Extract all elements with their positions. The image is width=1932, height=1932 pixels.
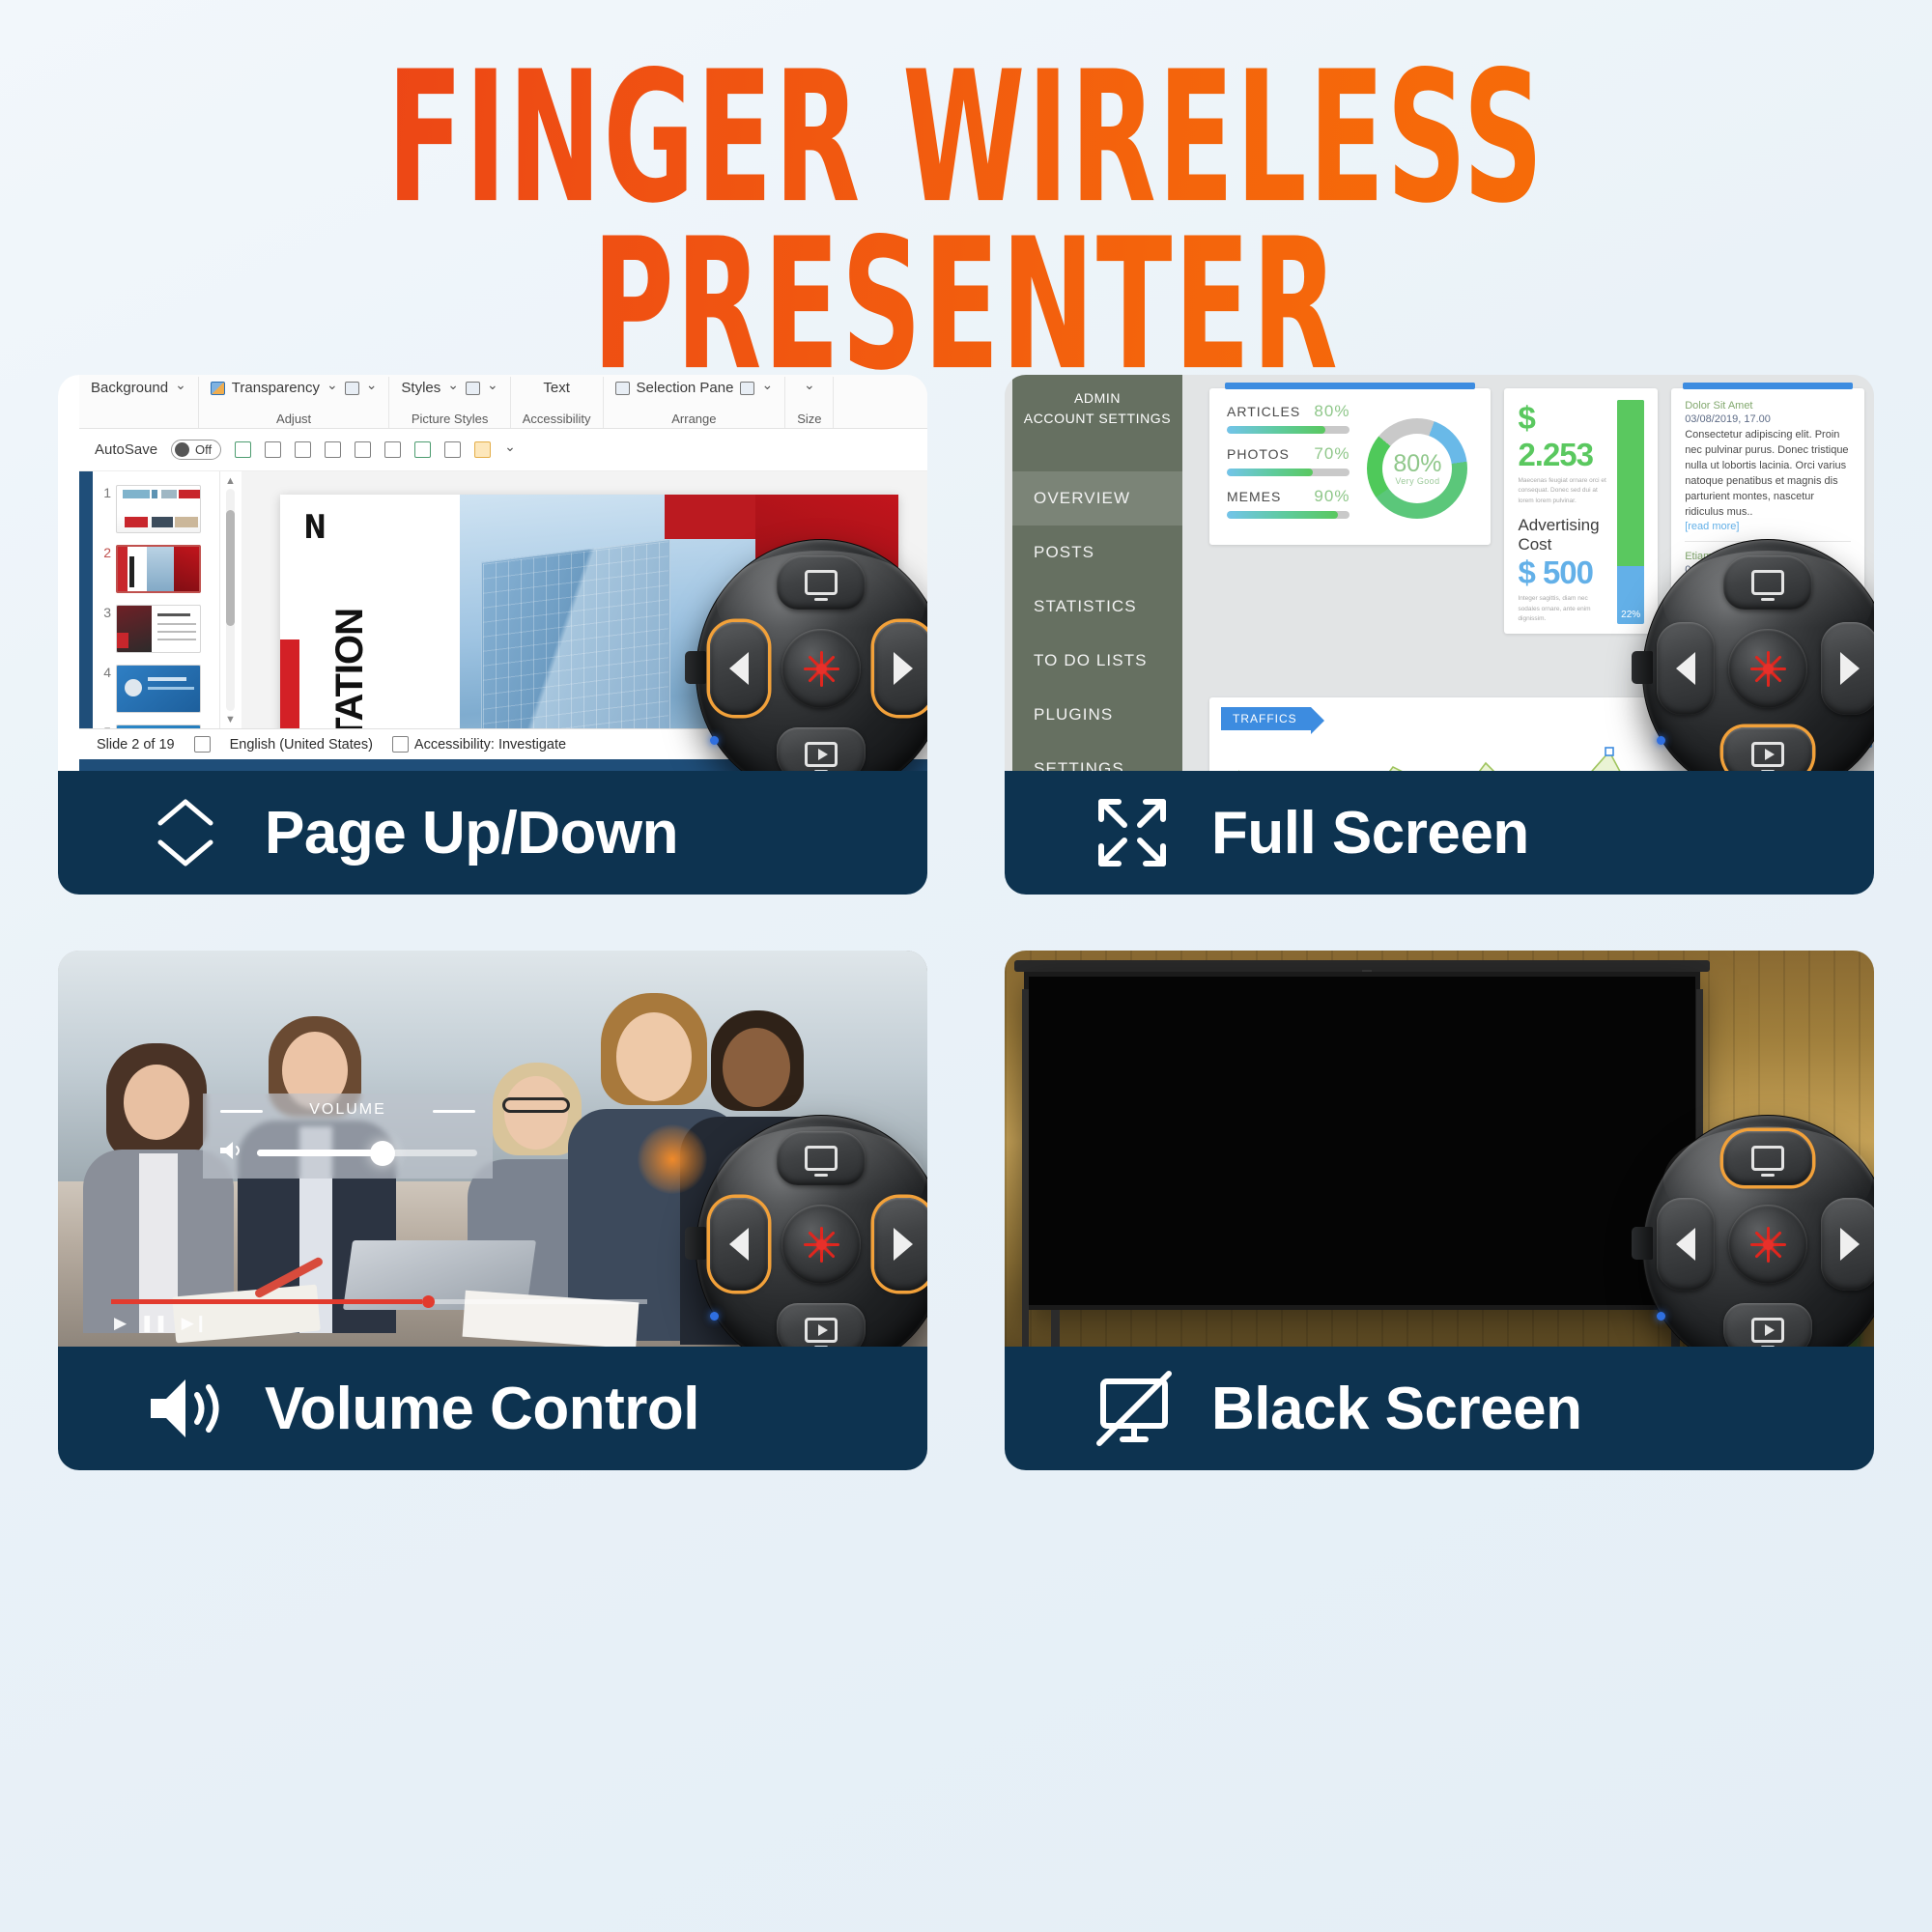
previous-button[interactable] <box>1657 622 1715 715</box>
slide-logo: N <box>304 508 327 547</box>
volume-overlay: VOLUME <box>203 1094 493 1179</box>
slide-number: 3 <box>99 605 111 620</box>
ribbon-group-background[interactable]: Background <box>79 377 199 429</box>
banner-label: Black Screen <box>1211 1375 1581 1443</box>
quick-access-toolbar: AutoSave Off <box>79 429 927 471</box>
sidebar-item-statistics[interactable]: STATISTICS <box>1012 580 1182 634</box>
window-left-edge <box>79 471 93 728</box>
slideshow-icon <box>805 742 838 767</box>
remote-body <box>1642 1115 1874 1349</box>
laser-core <box>1763 1239 1774 1250</box>
slideshow-button[interactable] <box>1723 727 1812 773</box>
stat-label: PHOTOS <box>1227 446 1290 462</box>
stat-label: ARTICLES <box>1227 404 1300 419</box>
sidebar-item-to-do-lists[interactable]: TO DO LISTS <box>1012 634 1182 688</box>
news-item: Dolor Sit Amet 03/08/2019, 17.00 Consect… <box>1685 400 1851 532</box>
gauge-caption: Very Good <box>1393 476 1441 486</box>
advertising-note: Integer sagittis, diam nec sodales ornar… <box>1518 594 1609 624</box>
speaker-icon <box>218 1140 243 1166</box>
chevron-left-icon <box>729 1228 749 1261</box>
volume-slider-row[interactable] <box>218 1140 477 1166</box>
chevron-right-icon <box>894 652 913 685</box>
redo-icon[interactable] <box>295 441 311 458</box>
laser-icon <box>1748 649 1787 688</box>
card-accent-bar <box>1683 383 1853 389</box>
feature-card-full-screen: ADMIN ACCOUNT SETTINGS OVERVIEW POSTS ST… <box>1005 375 1874 896</box>
accessibility-icon <box>392 736 409 753</box>
revenue-card: $ 2.253 Maecenas feugiat ornare orci et … <box>1504 388 1658 634</box>
stat-value: 80% <box>1314 402 1350 421</box>
next-button[interactable] <box>874 622 927 715</box>
slideshow-icon <box>805 1318 838 1343</box>
slide-preview-active[interactable] <box>116 545 201 593</box>
sidebar-item-plugins[interactable]: PLUGINS <box>1012 688 1182 742</box>
projection-screen <box>1024 972 1700 1310</box>
ribbon-group-size[interactable]: Size <box>785 377 834 429</box>
chevron-right-icon <box>1840 1228 1860 1261</box>
previous-button[interactable] <box>710 622 768 715</box>
remote-control-device <box>1642 1115 1874 1349</box>
stat-track <box>1227 511 1350 519</box>
banner-label: Page Up/Down <box>265 799 678 867</box>
slide-number: 4 <box>99 665 111 680</box>
chevron-down-icon[interactable] <box>761 380 773 396</box>
chevron-down-icon[interactable] <box>327 380 338 396</box>
insert-picture-icon[interactable] <box>384 441 401 458</box>
stat-fill <box>1227 511 1338 519</box>
speaker-waves-icon <box>139 1362 232 1455</box>
banner-volume-control: Volume Control <box>58 1347 927 1470</box>
finger-clip <box>1632 651 1653 684</box>
status-language[interactable]: English (United States) <box>230 737 373 753</box>
monitor-slash-icon <box>1086 1362 1179 1455</box>
ribbon-group-accessibility[interactable]: Text Accessibility <box>511 377 604 429</box>
transparency-icon <box>211 382 225 395</box>
remote-body <box>1642 539 1874 773</box>
ribbon-transparency-label: Transparency <box>232 380 320 396</box>
picture-effects-icon <box>466 382 480 395</box>
feature-card-volume-control: VOLUME <box>58 951 927 1472</box>
slide-thumbnail-2[interactable]: 2 <box>93 539 219 599</box>
laser-pointer-button[interactable] <box>781 629 861 708</box>
dashboard-sidebar: ADMIN ACCOUNT SETTINGS OVERVIEW POSTS ST… <box>1012 375 1182 773</box>
read-more-link[interactable]: [read more] <box>1685 521 1851 532</box>
powerpoint-ribbon: Background Transparency Adjust <box>79 375 927 429</box>
toggle-knob <box>175 442 189 457</box>
next-button[interactable] <box>1821 1198 1874 1291</box>
chevrons-up-down-icon <box>139 786 232 879</box>
expand-arrows-icon <box>1086 786 1179 879</box>
advertising-bar: 22% <box>1617 400 1644 624</box>
screen-leg <box>1051 1310 1060 1349</box>
ribbon-text-label: Text <box>543 380 570 396</box>
sidebar-header-admin: ADMIN <box>1016 388 1179 409</box>
slideshow-icon <box>1751 742 1784 767</box>
sidebar-nav: OVERVIEW POSTS STATISTICS TO DO LISTS PL… <box>1012 471 1182 773</box>
projector-screen-photo <box>1005 951 1874 1349</box>
ribbon-group-arrange[interactable]: Selection Pane Arrange <box>604 377 786 429</box>
chevron-right-icon <box>894 1228 913 1261</box>
slide-preview[interactable] <box>116 485 201 533</box>
gauge-ring: 80% Very Good <box>1367 418 1467 519</box>
undo-icon[interactable] <box>265 441 281 458</box>
status-led <box>710 736 719 745</box>
laser-core <box>1763 664 1774 674</box>
slide-thumbnail-4[interactable]: 4 <box>93 659 219 719</box>
volume-slider-fill <box>257 1150 383 1156</box>
remote-control-device <box>696 539 927 773</box>
progress-fill <box>111 1299 422 1304</box>
advertising-bar-value: 22% <box>1617 610 1644 624</box>
laser-pointer-button[interactable] <box>781 1205 861 1284</box>
monitor-button[interactable] <box>777 555 866 610</box>
news-body: Consectetur adipiscing elit. Proin nec p… <box>1685 428 1851 521</box>
slideshow-icon <box>1751 1318 1784 1343</box>
powerpoint-screenshot: Background Transparency Adjust <box>58 375 927 773</box>
ribbon-group-label-arrange: Arrange <box>671 412 716 429</box>
remote-body <box>696 539 927 773</box>
news-title: Dolor Sit Amet <box>1685 400 1851 412</box>
monitor-button[interactable] <box>1723 1131 1812 1185</box>
scrollbar-thumb[interactable] <box>226 510 235 626</box>
slide-preview[interactable] <box>116 665 201 713</box>
laser-icon <box>1748 1225 1787 1264</box>
monitor-icon <box>805 570 838 595</box>
feature-card-black-screen: Black Screen <box>1005 951 1874 1472</box>
laser-core <box>816 664 827 674</box>
ribbon-group-label-adjust: Adjust <box>276 412 311 429</box>
traffics-tag: TRAFFICS <box>1221 707 1311 730</box>
stats-card: ARTICLES 80% PHOTOS 70% <box>1209 388 1491 545</box>
slide-thumbnail-3[interactable]: 3 <box>93 599 219 659</box>
laser-pointer-button[interactable] <box>1728 629 1807 708</box>
slide-number-active: 2 <box>99 545 111 560</box>
sidebar-item-posts[interactable]: POSTS <box>1012 526 1182 580</box>
autosave-label: AutoSave <box>95 441 157 458</box>
stat-fill <box>1227 426 1325 434</box>
news-date: 03/08/2019, 17.00 <box>1685 413 1851 425</box>
next-icon[interactable]: ▶❙ <box>182 1314 208 1333</box>
ribbon-group-label-size: Size <box>797 412 821 429</box>
spellcheck-icon[interactable] <box>194 736 211 753</box>
remote-body <box>696 1115 927 1349</box>
meeting-photo: VOLUME <box>58 951 927 1349</box>
video-controls[interactable]: ▶ ❚❚ ▶❙ <box>114 1314 208 1333</box>
slide-thumbnail-pane[interactable]: 1 2 <box>93 471 220 728</box>
status-led <box>1657 1312 1665 1321</box>
card-accent-bar <box>1225 383 1475 389</box>
banner-full-screen: Full Screen <box>1005 771 1874 895</box>
status-slide-counter: Slide 2 of 19 <box>97 737 175 753</box>
chevron-right-icon <box>1840 652 1860 685</box>
ribbon-styles-label: Styles <box>401 380 440 396</box>
banner-black-screen: Black Screen <box>1005 1347 1874 1470</box>
banner-page-up-down: Page Up/Down <box>58 771 927 895</box>
chevron-left-icon <box>1676 1228 1695 1261</box>
new-file-icon[interactable] <box>355 441 371 458</box>
pause-icon[interactable]: ❚❚ <box>140 1314 168 1333</box>
stat-value: 90% <box>1314 487 1350 506</box>
remote-control-device <box>696 1115 927 1349</box>
slide-thumbnail-1[interactable]: 1 <box>93 479 219 539</box>
title-line-2: PRESENTER <box>29 223 1903 389</box>
status-led <box>710 1312 719 1321</box>
chevron-left-icon <box>1676 652 1695 685</box>
advertising-label: Advertising Cost <box>1518 516 1609 554</box>
laser-icon <box>802 1225 840 1264</box>
chevron-down-icon[interactable] <box>804 380 815 396</box>
sidebar-header-account-settings: ACCOUNT SETTINGS <box>1016 409 1179 429</box>
next-button[interactable] <box>874 1198 927 1291</box>
title-line-1: FINGER WIRELESS <box>29 56 1903 222</box>
monitor-button[interactable] <box>777 1131 866 1185</box>
feature-card-grid: Background Transparency Adjust <box>58 375 1874 1472</box>
rotate-icon <box>740 382 754 395</box>
score-gauge: 80% Very Good <box>1361 412 1473 519</box>
scroll-up-icon[interactable]: ▲ <box>225 475 236 486</box>
sidebar-header: ADMIN ACCOUNT SETTINGS <box>1012 386 1182 450</box>
monitor-button[interactable] <box>1723 555 1812 610</box>
volume-slider-knob[interactable] <box>370 1141 395 1166</box>
ribbon-group-label-accessibility: Accessibility <box>523 412 591 429</box>
stat-track <box>1227 426 1350 434</box>
ribbon-group-adjust[interactable]: Transparency Adjust <box>199 377 390 429</box>
start-slideshow-icon[interactable] <box>444 441 461 458</box>
selection-pane-icon <box>615 382 630 395</box>
next-button[interactable] <box>1821 622 1874 715</box>
progress-track[interactable] <box>111 1299 647 1304</box>
overlay-dash-left <box>220 1110 263 1113</box>
stat-row-memes: MEMES 90% <box>1227 487 1350 519</box>
slide-preview[interactable] <box>116 605 201 653</box>
finger-clip <box>685 651 706 684</box>
slide-number: 1 <box>99 485 111 500</box>
ribbon-group-picture-styles[interactable]: Styles Picture Styles <box>389 377 510 429</box>
banner-label: Full Screen <box>1211 799 1529 867</box>
scroll-down-icon[interactable]: ▼ <box>225 714 236 724</box>
remote-control-device <box>1642 539 1874 773</box>
monitor-icon <box>805 1146 838 1171</box>
slideshow-button[interactable] <box>1723 1303 1812 1349</box>
status-accessibility[interactable]: Accessibility: Investigate <box>414 737 566 753</box>
stat-row-articles: ARTICLES 80% <box>1227 402 1350 434</box>
feature-card-page-up-down: Background Transparency Adjust <box>58 375 927 896</box>
previous-button[interactable] <box>710 1198 768 1291</box>
ribbon-selection-pane-label: Selection Pane <box>637 380 734 396</box>
revenue-amount: $ 2.253 <box>1518 400 1609 473</box>
dashboard-screenshot: ADMIN ACCOUNT SETTINGS OVERVIEW POSTS ST… <box>1005 375 1874 773</box>
screen-stand <box>1022 989 1029 1349</box>
chevron-down-icon[interactable] <box>175 380 186 396</box>
picture-corrections-icon <box>345 382 359 395</box>
play-icon[interactable]: ▶ <box>114 1314 127 1333</box>
revenue-note: Maecenas feugiat ornare orci et consequa… <box>1518 476 1609 506</box>
stat-value: 70% <box>1314 444 1350 464</box>
stat-track <box>1227 469 1350 476</box>
chevron-down-icon[interactable] <box>504 441 516 458</box>
status-led <box>1657 736 1665 745</box>
chevron-down-icon[interactable] <box>447 380 459 396</box>
volume-slider-track[interactable] <box>257 1150 477 1156</box>
slideshow-button[interactable] <box>777 727 866 773</box>
print-icon[interactable] <box>414 441 431 458</box>
chevron-left-icon <box>729 652 749 685</box>
ribbon-background-label: Background <box>91 380 168 396</box>
stat-row-photos: PHOTOS 70% <box>1227 444 1350 476</box>
progress-handle[interactable] <box>422 1295 435 1308</box>
chevron-down-icon[interactable] <box>366 380 378 396</box>
duplicate-icon[interactable] <box>474 441 491 458</box>
slideshow-button[interactable] <box>777 1303 866 1349</box>
gauge-value: 80% <box>1393 452 1441 476</box>
ribbon-group-label-picture-styles: Picture Styles <box>412 412 488 429</box>
stat-fill <box>1227 469 1313 476</box>
laser-core <box>816 1239 827 1250</box>
monitor-icon <box>1751 1146 1784 1171</box>
autosave-toggle[interactable]: Off <box>171 440 221 460</box>
finger-clip <box>685 1227 706 1260</box>
advertising-bar-fill <box>1617 400 1644 566</box>
open-folder-icon[interactable] <box>325 441 341 458</box>
thumbnail-scrollbar[interactable]: ▲ ▼ <box>224 475 237 724</box>
finger-clip <box>1632 1227 1653 1260</box>
advertising-amount: $ 500 <box>1518 554 1609 591</box>
sidebar-item-overview[interactable]: OVERVIEW <box>1012 471 1182 526</box>
sidebar-item-settings[interactable]: SETTINGS <box>1012 742 1182 773</box>
page-title: FINGER WIRELESS PRESENTER <box>0 56 1932 341</box>
laser-icon <box>802 649 840 688</box>
laser-pointer-button[interactable] <box>1728 1205 1807 1284</box>
save-icon[interactable] <box>235 441 251 458</box>
chevron-down-icon[interactable] <box>487 380 498 396</box>
banner-label: Volume Control <box>265 1375 699 1443</box>
stat-label: MEMES <box>1227 489 1281 504</box>
volume-title: VOLUME <box>309 1101 386 1119</box>
autosave-state: Off <box>195 442 212 457</box>
previous-button[interactable] <box>1657 1198 1715 1291</box>
overlay-dash-right <box>433 1110 475 1113</box>
monitor-icon <box>1751 570 1784 595</box>
